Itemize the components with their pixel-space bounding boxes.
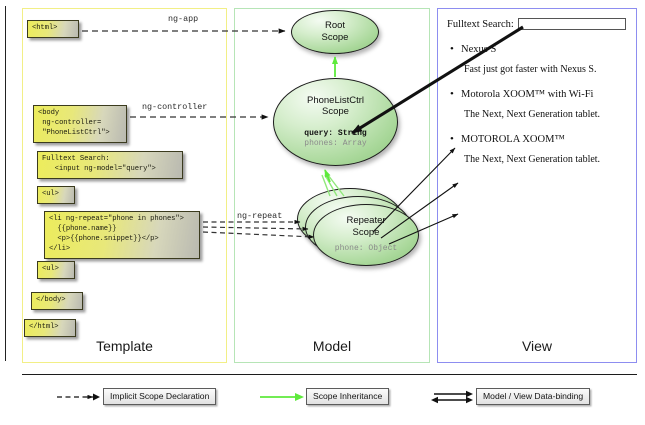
code-box-html-close[interactable]: </html> bbox=[24, 319, 76, 337]
root-scope-title: Root Scope bbox=[322, 20, 349, 43]
code-box-fulltext-search[interactable]: Fulltext Search: <input ng-model="query"… bbox=[37, 151, 183, 179]
view-search-label: Fulltext Search: bbox=[447, 19, 514, 30]
list-item[interactable]: Nexus S Fast just got faster with Nexus … bbox=[461, 44, 629, 75]
phone-snippet: Fast just got faster with Nexus S. bbox=[464, 64, 629, 75]
legend-model-view-databinding: Model / View Data-binding bbox=[428, 388, 590, 405]
left-edge-rule bbox=[5, 6, 6, 361]
view-search-row: Fulltext Search: bbox=[447, 18, 629, 30]
list-item[interactable]: MOTOROLA XOOM™ The Next, Next Generation… bbox=[461, 134, 629, 165]
ng-repeat-label: ng-repeat bbox=[237, 211, 282, 221]
code-box-body-close[interactable]: </body> bbox=[31, 292, 83, 310]
view-phone-list: Nexus S Fast just got faster with Nexus … bbox=[447, 44, 629, 165]
repeater-scope-prop-phone: phone: Object bbox=[335, 244, 397, 254]
ng-app-label: ng-app bbox=[168, 14, 198, 24]
list-item[interactable]: Motorola XOOM™ with Wi-Fi The Next, Next… bbox=[461, 89, 629, 120]
phonelistctrl-scope-ellipse[interactable]: PhoneListCtrl Scope query: String phones… bbox=[273, 78, 398, 166]
model-panel-label: Model bbox=[235, 338, 429, 354]
repeater-scope-ellipse-front[interactable]: Repeater Scope phone: Object bbox=[313, 204, 419, 266]
legend-binding-label: Model / View Data-binding bbox=[476, 388, 590, 405]
phone-snippet: The Next, Next Generation tablet. bbox=[464, 109, 629, 120]
phonelistctrl-scope-prop-phones: phones: Array bbox=[304, 139, 366, 149]
phone-name: Nexus S bbox=[461, 44, 629, 55]
phonelistctrl-scope-title: PhoneListCtrl Scope bbox=[307, 95, 364, 118]
legend-inheritance-label: Scope Inheritance bbox=[306, 388, 389, 405]
ng-controller-label: ng-controller bbox=[142, 102, 207, 112]
phone-name: MOTOROLA XOOM™ bbox=[461, 134, 629, 145]
code-box-body-open[interactable]: <body ng-controller= "PhoneListCtrl"> bbox=[33, 105, 127, 143]
legend-green-arrow-icon bbox=[258, 389, 306, 405]
legend-implicit-scope-declaration: Implicit Scope Declaration bbox=[55, 388, 216, 405]
code-box-ul-close[interactable]: <ul> bbox=[37, 261, 75, 279]
repeater-scope-title: Repeater Scope bbox=[346, 215, 385, 238]
view-search-input[interactable] bbox=[518, 18, 626, 30]
legend-double-arrow-icon bbox=[428, 389, 476, 405]
model-panel: Model bbox=[234, 8, 430, 363]
code-box-ul-open[interactable]: <ul> bbox=[37, 186, 75, 204]
phonelistctrl-scope-prop-query: query: String bbox=[304, 129, 366, 139]
template-panel-label: Template bbox=[23, 338, 226, 354]
root-scope-ellipse[interactable]: Root Scope bbox=[291, 10, 379, 54]
view-panel-label: View bbox=[438, 338, 636, 354]
legend-dashed-arrow-icon bbox=[55, 389, 103, 405]
phone-name: Motorola XOOM™ with Wi-Fi bbox=[461, 89, 629, 100]
diagram-canvas: Template <html> <body ng-controller= "Ph… bbox=[0, 0, 645, 425]
legend-scope-inheritance: Scope Inheritance bbox=[258, 388, 389, 405]
code-box-li-ng-repeat[interactable]: <li ng-repeat="phone in phones"> {{phone… bbox=[44, 211, 200, 259]
legend-divider bbox=[22, 374, 637, 375]
phone-snippet: The Next, Next Generation tablet. bbox=[464, 154, 629, 165]
code-box-html-open[interactable]: <html> bbox=[27, 20, 79, 38]
legend-implicit-label: Implicit Scope Declaration bbox=[103, 388, 216, 405]
view-content: Fulltext Search: Nexus S Fast just got f… bbox=[447, 18, 629, 165]
